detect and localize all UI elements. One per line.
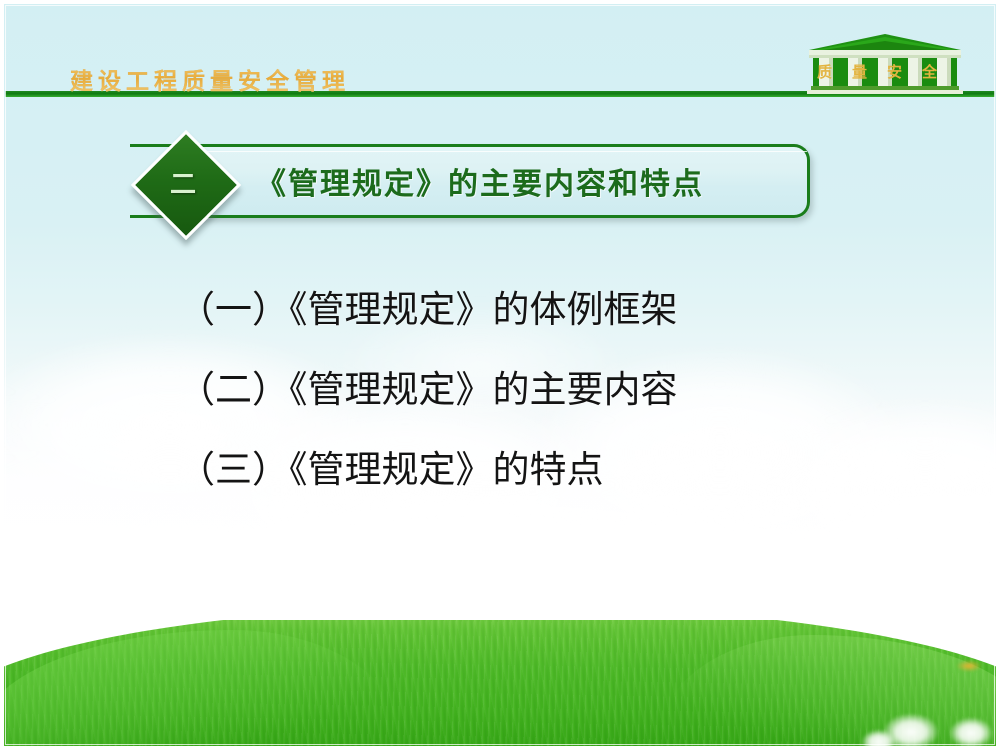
section-title: 《管理规定》的主要内容和特点 (256, 159, 704, 203)
diamond-shape (131, 130, 241, 240)
quality-safety-temple-logo: 质 量 安 全 (805, 33, 965, 96)
content-list: （一）《管理规定》的体例框架 （二）《管理规定》的主要内容 （三）《管理规定》的… (178, 292, 918, 489)
presentation-slide: 建设工程质量安全管理 (0, 0, 1000, 750)
section-banner: 《管理规定》的主要内容和特点 (176, 144, 810, 218)
header-title: 建设工程质量安全管理 (70, 62, 350, 96)
svg-text:安: 安 (887, 63, 902, 81)
flower-icon (884, 714, 938, 750)
grass-hill (0, 620, 1000, 750)
flower-icon (950, 718, 992, 748)
svg-text:量: 量 (852, 64, 867, 81)
gold-speck-icon (956, 660, 982, 672)
svg-text:质: 质 (817, 63, 832, 81)
list-item: （二）《管理规定》的主要内容 (178, 372, 918, 409)
section-number-badge: 二 (134, 133, 232, 231)
list-item: （三）《管理规定》的特点 (178, 452, 918, 489)
svg-text:全: 全 (921, 63, 938, 81)
banner-inner-highlight (176, 151, 807, 152)
list-item: （一）《管理规定》的体例框架 (178, 292, 918, 329)
